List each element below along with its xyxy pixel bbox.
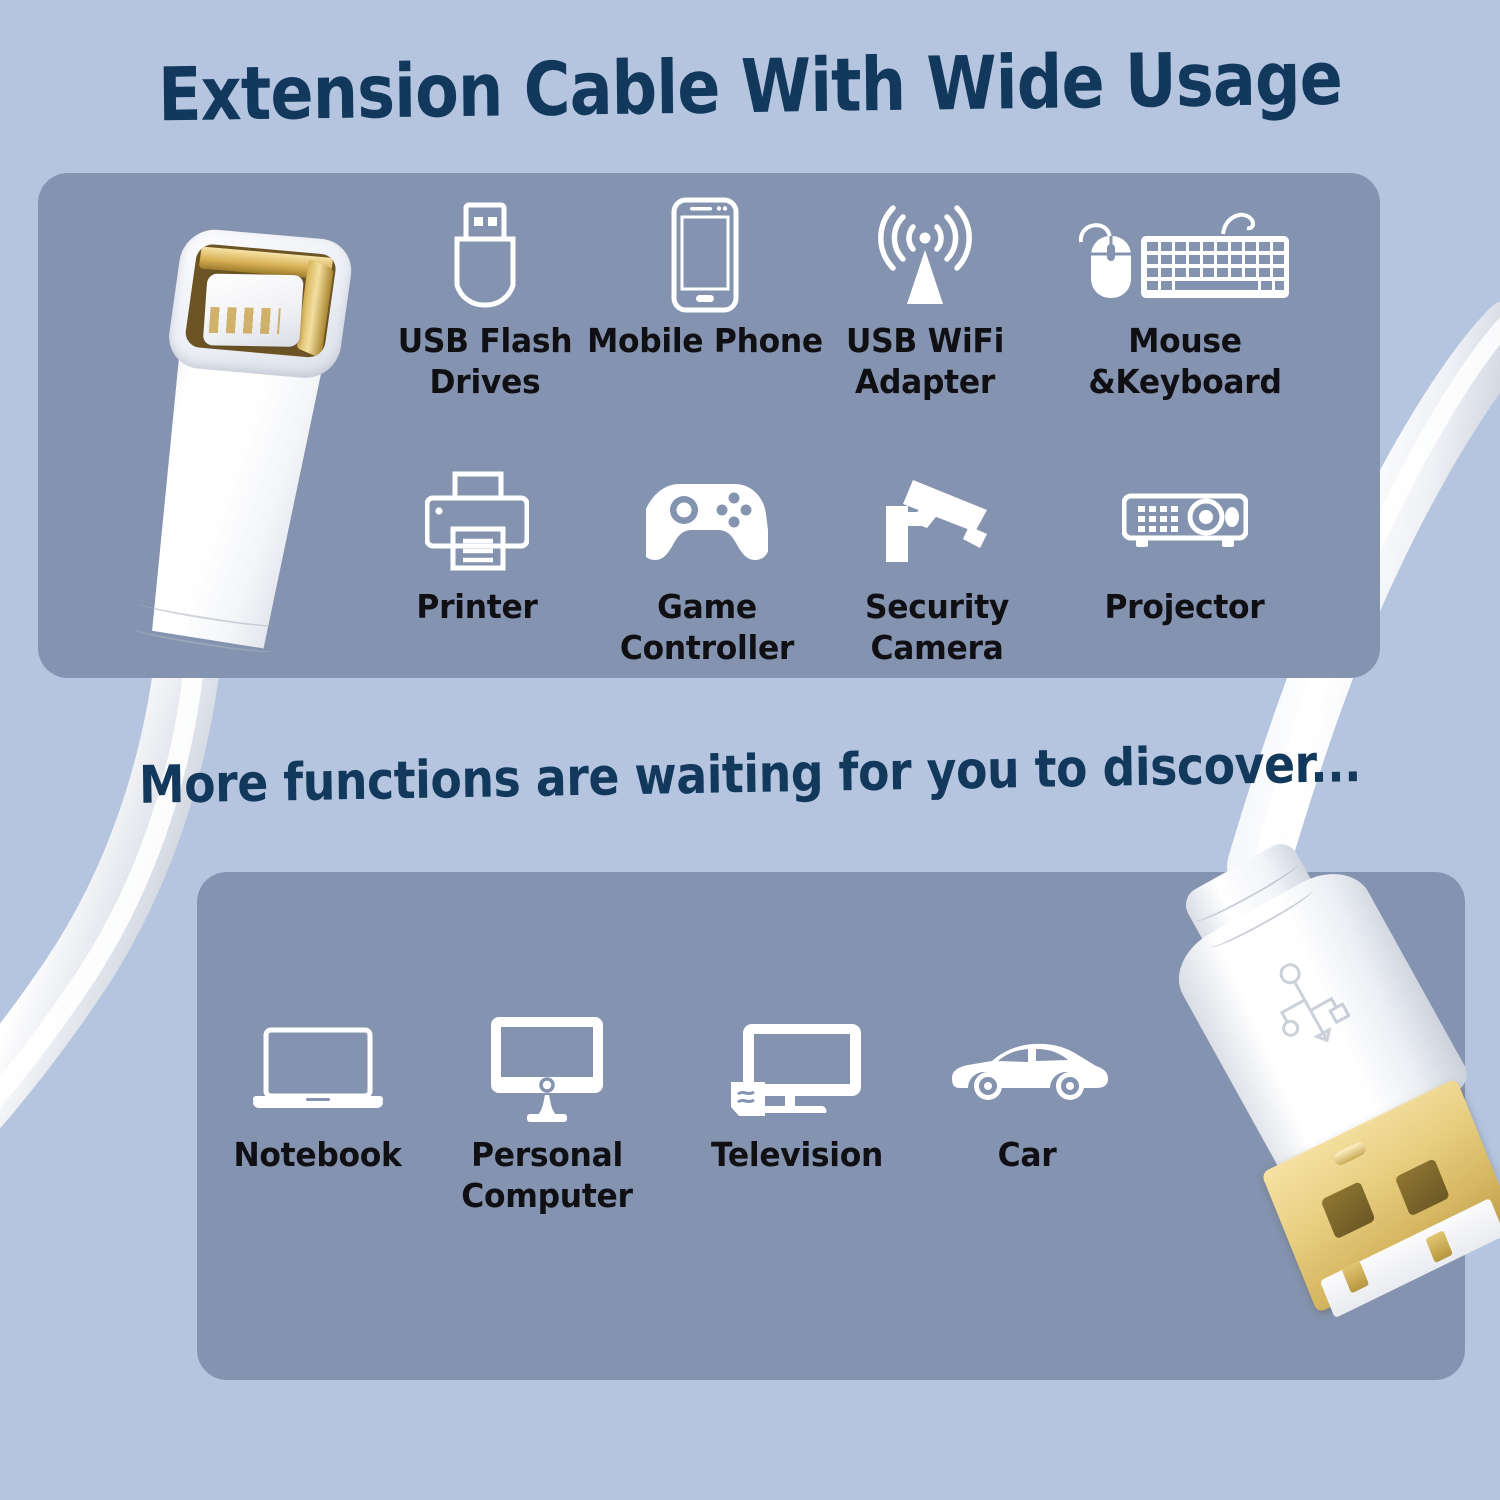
device-item-usb-flash-drives: USB FlashDrives <box>360 196 610 403</box>
device-label: Mouse &Keyboard <box>1028 320 1342 403</box>
cable-segment-left <box>0 640 190 1124</box>
device-item-mouse-keyboard: Mouse &Keyboard <box>1020 196 1350 403</box>
device-label: SecurityCamera <box>828 586 1047 669</box>
device-label: GameController <box>598 586 817 669</box>
device-label: PersonalComputer <box>438 1134 657 1217</box>
television-icon <box>682 1010 912 1128</box>
device-item-security-camera: SecurityCamera <box>822 462 1052 669</box>
device-label: Television <box>688 1134 907 1175</box>
device-item-mobile-phone: Mobile Phone <box>580 196 830 361</box>
device-item-television: Television <box>682 1010 912 1175</box>
usb-flash-drive-icon <box>360 196 610 314</box>
car-icon <box>912 1010 1142 1128</box>
usb-wifi-adapter-icon <box>800 196 1050 314</box>
page-title: Extension Cable With Wide Usage <box>105 35 1396 139</box>
device-label: Car <box>918 1134 1137 1175</box>
device-item-printer: Printer <box>362 462 592 627</box>
device-item-game-controller: GameController <box>592 462 822 669</box>
device-item-usb-wifi-adapter: USB WiFiAdapter <box>800 196 1050 403</box>
device-label: Printer <box>368 586 587 627</box>
security-camera-icon <box>822 462 1052 580</box>
device-item-car: Car <box>912 1010 1142 1175</box>
device-item-notebook: Notebook <box>205 1010 430 1175</box>
game-controller-icon <box>592 462 822 580</box>
device-item-projector: Projector <box>1052 462 1317 627</box>
device-item-personal-computer: PersonalComputer <box>432 1010 662 1217</box>
device-label: Projector <box>1059 586 1311 627</box>
more-functions-note: More functions are waiting for you to di… <box>90 733 1411 817</box>
usb-female-gold-cavity <box>184 243 338 358</box>
mobile-phone-icon <box>580 196 830 314</box>
device-label: USB FlashDrives <box>366 320 604 403</box>
personal-computer-icon <box>432 1010 662 1128</box>
cable-highlight-left <box>0 646 196 1118</box>
printer-icon <box>362 462 592 580</box>
projector-icon <box>1052 462 1317 580</box>
device-label: Mobile Phone <box>586 320 824 361</box>
notebook-icon <box>205 1010 430 1128</box>
device-label: Notebook <box>211 1134 425 1175</box>
device-label: USB WiFiAdapter <box>806 320 1044 403</box>
mouse-keyboard-icon <box>1020 196 1350 314</box>
